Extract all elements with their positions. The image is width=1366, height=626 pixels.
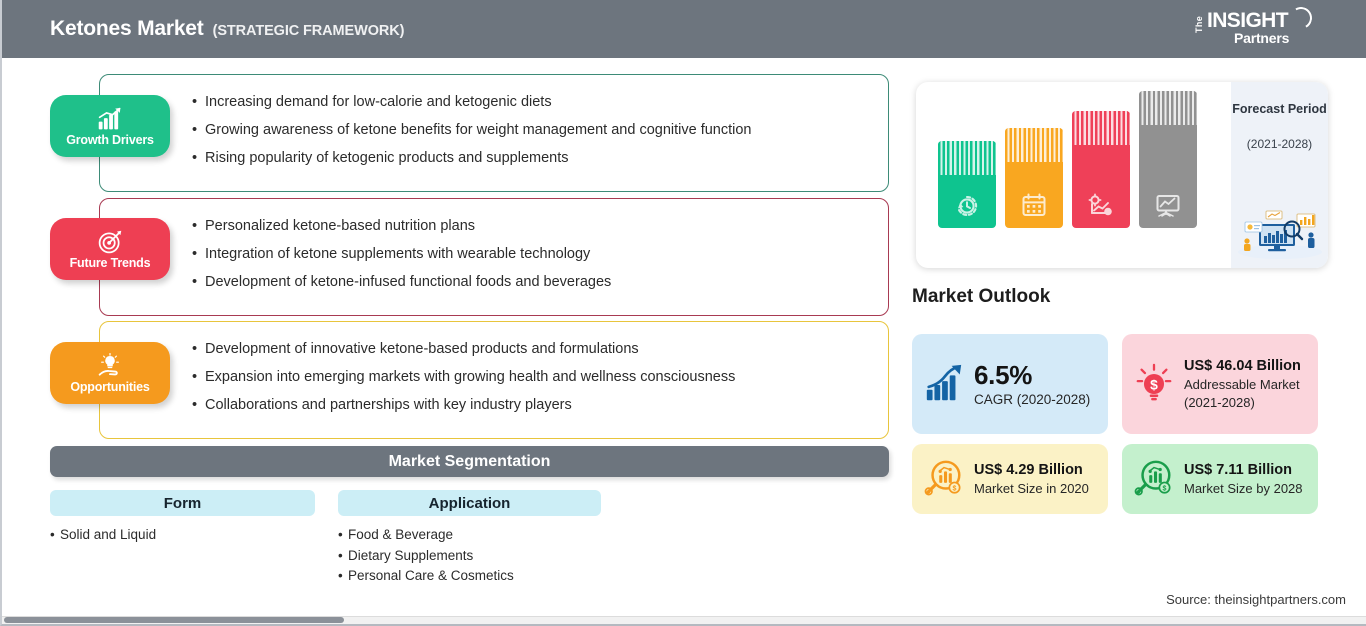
list-item: Food & Beverage (338, 525, 514, 546)
infographic-page: Ketones Market (STRATEGIC FRAMEWORK) The… (0, 0, 1366, 626)
outlook-card-text: US$ 4.29 Billion Market Size in 2020 (974, 461, 1089, 498)
logo-partners-text: Partners (1234, 30, 1289, 46)
outlook-card-value: US$ 4.29 Billion (974, 461, 1089, 480)
header-title-group: Ketones Market (STRATEGIC FRAMEWORK) (50, 17, 404, 41)
list-item: Solid and Liquid (50, 525, 156, 546)
badge-label: Future Trends (70, 256, 151, 270)
logo-the-text: The (1194, 16, 1204, 33)
list-item: Expansion into emerging markets with gro… (192, 363, 874, 391)
lightbulb-hand-icon (96, 353, 124, 379)
outlook-card-text: 6.5% CAGR (2020-2028) (974, 360, 1090, 409)
chart-bar: 2021EstimatedYear (1072, 111, 1130, 228)
market-segmentation-header: Market Segmentation (50, 446, 889, 477)
outlook-card-value: US$ 7.11 Billion (1184, 461, 1303, 480)
outlook-card-value: US$ 46.04 Billion (1184, 357, 1307, 376)
badge-label: Growth Drivers (66, 133, 154, 147)
list-item: Development of ketone-infused functional… (192, 268, 874, 296)
list-item: Personalized ketone-based nutrition plan… (192, 212, 874, 240)
segmentation-column-header-form: Form (50, 490, 315, 516)
svg-text:$: $ (953, 485, 957, 492)
clock-history-icon (954, 193, 980, 217)
segmentation-column-header-application: Application (338, 490, 601, 516)
calendar-icon (1021, 193, 1047, 217)
source-attribution: Source: theinsightpartners.com (1166, 592, 1346, 607)
outlook-card-market-size-2020[interactable]: $ $ US$ 4.29 Billion Market Size in 2020 (912, 444, 1108, 514)
insight-partners-logo: The INSIGHT Partners (1194, 8, 1312, 50)
magnifier-chart-icon: $ $ (1133, 458, 1175, 500)
chart-bar: 2020BaseYear (1005, 128, 1063, 228)
bullet-list: Increasing demand for low-calorie and ke… (192, 88, 874, 172)
svg-text:$: $ (927, 490, 930, 496)
chart-bar-column-1: 2018-2019HistoricalYears (938, 141, 996, 228)
outlook-card-label: Addressable Market (2021-2028) (1184, 376, 1307, 412)
market-outlook-title: Market Outlook (912, 286, 1050, 308)
page-subtitle: (STRATEGIC FRAMEWORK) (213, 23, 405, 39)
bucket-future-trends: Personalized ketone-based nutrition plan… (99, 198, 889, 316)
screen-chart-icon (1155, 193, 1181, 217)
outlook-card-addressable-market[interactable]: $ US$ 46.04 Billion Addressable Market (… (1122, 334, 1318, 434)
outlook-card-cagr[interactable]: 6.5% CAGR (2020-2028) (912, 334, 1108, 434)
outlook-card-text: US$ 46.04 Billion Addressable Market (20… (1184, 357, 1307, 412)
outlook-card-label: Market Size in 2020 (974, 480, 1089, 498)
chart-bar-stripes (938, 141, 996, 175)
chart-bar-column-3: 2021EstimatedYear (1072, 111, 1130, 228)
svg-text:$: $ (1163, 485, 1167, 492)
badge-opportunities[interactable]: Opportunities (50, 342, 170, 404)
forecast-timeline-chart: 2018-2019HistoricalYears2020BaseYear2021… (916, 82, 1328, 268)
segmentation-list-form: Solid and Liquid (50, 525, 156, 546)
data-analytics-illustration (1235, 208, 1325, 260)
outlook-card-text: US$ 7.11 Billion Market Size by 2028 (1184, 461, 1303, 498)
svg-text:$: $ (1150, 376, 1158, 392)
chart-bar: 2028ProjectedYear (1139, 91, 1197, 228)
outlook-card-label: CAGR (2020-2028) (974, 390, 1090, 409)
list-item: Development of innovative ketone-based p… (192, 335, 874, 363)
list-item: Increasing demand for low-calorie and ke… (192, 88, 874, 116)
growth-bar-chart-icon (923, 363, 965, 405)
outlook-card-label: Market Size by 2028 (1184, 480, 1303, 498)
left-column: Increasing demand for low-calorie and ke… (2, 58, 902, 626)
chart-bar-stripes (1139, 91, 1197, 125)
right-column: 2018-2019HistoricalYears2020BaseYear2021… (902, 58, 1366, 626)
badge-future-trends[interactable]: Future Trends (50, 218, 170, 280)
bucket-growth-drivers: Increasing demand for low-calorie and ke… (99, 74, 889, 192)
badge-growth-drivers[interactable]: Growth Drivers (50, 95, 170, 157)
bucket-opportunities: Development of innovative ketone-based p… (99, 321, 889, 439)
analytics-gear-icon (1088, 193, 1114, 217)
forecast-period-panel: Forecast Period (2021-2028) (1231, 82, 1328, 268)
target-dart-icon (96, 229, 124, 255)
list-item: Integration of ketone supplements with w… (192, 240, 874, 268)
list-item: Collaborations and partnerships with key… (192, 391, 874, 419)
magnifier-chart-icon: $ $ (923, 458, 965, 500)
list-item: Dietary Supplements (338, 546, 514, 567)
chart-bars: 2018-2019HistoricalYears2020BaseYear2021… (916, 82, 1231, 268)
horizontal-scrollbar-track[interactable] (2, 616, 1366, 624)
horizontal-scrollbar-thumb[interactable] (4, 617, 344, 623)
page-title: Ketones Market (50, 17, 204, 41)
list-item: Personal Care & Cosmetics (338, 566, 514, 587)
logo-arc-icon (1288, 5, 1315, 32)
svg-text:$: $ (1137, 490, 1140, 496)
chart-bar: 2018-2019HistoricalYears (938, 141, 996, 228)
page-header: Ketones Market (STRATEGIC FRAMEWORK) The… (2, 0, 1366, 58)
forecast-period-range: (2021-2028) (1231, 137, 1328, 151)
list-item: Growing awareness of ketone benefits for… (192, 116, 874, 144)
chart-bar-column-4: 2028ProjectedYear (1139, 91, 1197, 228)
bar-chart-growth-icon (96, 106, 124, 132)
bullet-list: Development of innovative ketone-based p… (192, 335, 874, 419)
list-item: Rising popularity of ketogenic products … (192, 144, 874, 172)
segmentation-list-application: Food & Beverage Dietary Supplements Pers… (338, 525, 514, 587)
forecast-period-title: Forecast Period (1231, 101, 1328, 118)
outlook-card-value: 6.5% (974, 360, 1090, 390)
chart-bar-column-2: 2020BaseYear (1005, 128, 1063, 228)
chart-bar-stripes (1005, 128, 1063, 162)
outlook-card-market-size-2028[interactable]: $ $ US$ 7.11 Billion Market Size by 2028 (1122, 444, 1318, 514)
lightbulb-dollar-icon: $ (1133, 363, 1175, 405)
bullet-list: Personalized ketone-based nutrition plan… (192, 212, 874, 296)
badge-label: Opportunities (70, 380, 149, 394)
chart-bar-stripes (1072, 111, 1130, 145)
